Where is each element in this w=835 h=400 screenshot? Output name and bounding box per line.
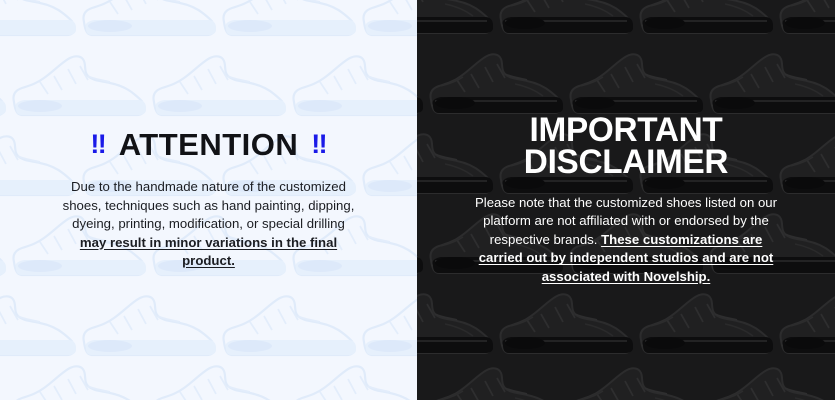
attention-panel: ‼ATTENTION‼ Due to the handmade nature o… bbox=[0, 0, 417, 400]
attention-title: ATTENTION bbox=[119, 127, 299, 162]
attention-heading: ‼ATTENTION‼ bbox=[22, 129, 395, 162]
disclaimer-content: IMPORTANT DISCLAIMER Please note that th… bbox=[417, 114, 835, 287]
disclaimer-banner: ‼ATTENTION‼ Due to the handmade nature o… bbox=[0, 0, 835, 400]
disclaimer-body-text: Please note that the customized shoes li… bbox=[470, 194, 782, 287]
disclaimer-panel: IMPORTANT DISCLAIMER Please note that th… bbox=[417, 0, 835, 400]
disclaimer-heading-line1: IMPORTANT bbox=[443, 114, 810, 147]
double-exclamation-left-icon: ‼ bbox=[90, 129, 105, 159]
attention-body-emphasis: may result in minor variations in the fi… bbox=[80, 235, 337, 269]
attention-body-text: Due to the handmade nature of the custom… bbox=[59, 178, 359, 271]
attention-content: ‼ATTENTION‼ Due to the handmade nature o… bbox=[0, 129, 417, 270]
double-exclamation-right-icon: ‼ bbox=[311, 129, 326, 159]
disclaimer-heading: IMPORTANT DISCLAIMER bbox=[443, 114, 810, 179]
disclaimer-heading-line2: DISCLAIMER bbox=[443, 146, 810, 179]
attention-body-normal: Due to the handmade nature of the custom… bbox=[63, 179, 355, 231]
